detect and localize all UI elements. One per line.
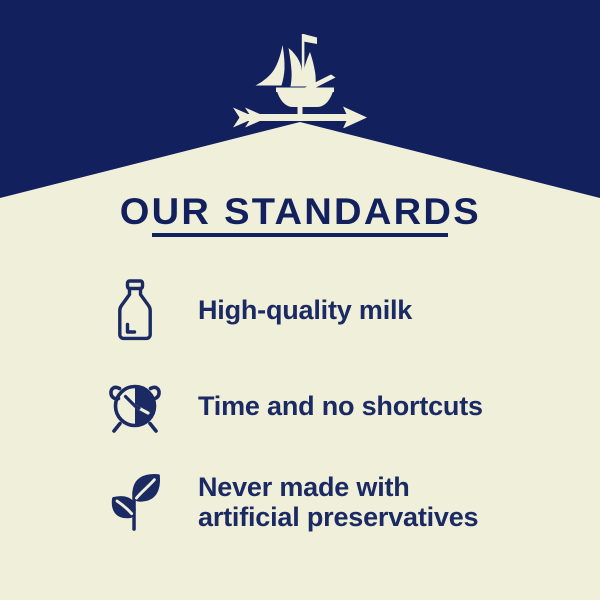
list-item-label: Time and no shortcuts <box>198 391 483 421</box>
page-title-text: OUR STANDARDS <box>119 192 480 232</box>
list-item-label: High-quality milk <box>198 295 412 325</box>
list-item: Never made with artificial preservatives <box>0 454 600 550</box>
list-item: High-quality milk <box>0 262 600 358</box>
list-item: Time and no shortcuts <box>0 358 600 454</box>
milk-bottle-icon <box>104 276 166 344</box>
our-standards-poster: OUR STANDARDS High-quality milk <box>0 0 600 600</box>
ship-weathervane-logo <box>225 28 375 128</box>
sprout-plant-icon <box>104 468 166 536</box>
title-underline-rule <box>152 233 448 237</box>
standards-list: High-quality milk <box>0 262 600 550</box>
page-title: OUR STANDARDS <box>0 192 600 232</box>
list-item-label: Never made with artificial preservatives <box>198 472 478 532</box>
alarm-clock-icon <box>104 372 166 440</box>
